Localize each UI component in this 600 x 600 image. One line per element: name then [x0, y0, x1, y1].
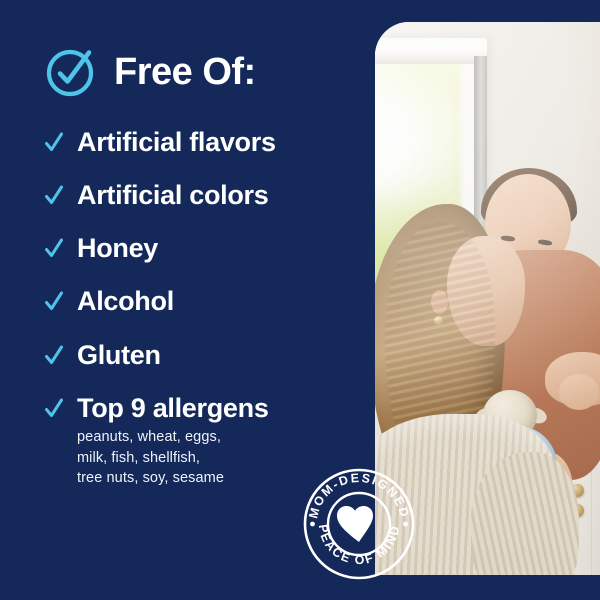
allergen-sub-line: milk, fish, shellfish, [77, 448, 269, 469]
list-item-text: Top 9 allergens peanuts, wheat, eggs, mi… [77, 394, 269, 489]
mom-designed-seal: MOM-DESIGNED PEACE OF MIND [303, 468, 415, 580]
check-icon [45, 343, 63, 369]
photo-mother-arm [471, 452, 579, 575]
list-item: Alcohol [45, 287, 375, 316]
list-item-text: Honey [77, 234, 158, 263]
photo-baby-hand [559, 374, 599, 410]
check-icon [45, 130, 63, 156]
heading-row: Free Of: [45, 46, 375, 98]
seal-separator-dot [403, 522, 408, 527]
promo-panel: Free Of: Artificial flavors Artificial c… [0, 0, 600, 600]
list-item-label: Honey [77, 234, 158, 263]
list-item-label: Top 9 allergens [77, 394, 269, 423]
list-item-text: Alcohol [77, 287, 174, 316]
list-item: Artificial colors [45, 181, 375, 210]
allergen-sub-line: peanuts, wheat, eggs, [77, 427, 269, 448]
check-icon [45, 396, 63, 422]
check-icon [45, 236, 63, 262]
list-item-label: Artificial flavors [77, 128, 276, 157]
list-item-text: Gluten [77, 341, 161, 370]
page-title: Free Of: [114, 53, 256, 91]
list-item-text: Artificial colors [77, 181, 268, 210]
list-item-text: Artificial flavors [77, 128, 276, 157]
check-icon [45, 183, 63, 209]
allergen-sub-line: tree nuts, soy, sesame [77, 468, 269, 489]
check-icon [45, 289, 63, 315]
list-item: Artificial flavors [45, 128, 375, 157]
circle-check-icon [45, 46, 97, 98]
list-item: Gluten [45, 341, 375, 370]
seal-heart-icon [337, 506, 373, 542]
list-item-label: Artificial colors [77, 181, 268, 210]
photo-window-header [375, 50, 487, 64]
list-item-label: Alcohol [77, 287, 174, 316]
list-item-label: Gluten [77, 341, 161, 370]
list-item: Honey [45, 234, 375, 263]
seal-separator-dot [310, 522, 315, 527]
